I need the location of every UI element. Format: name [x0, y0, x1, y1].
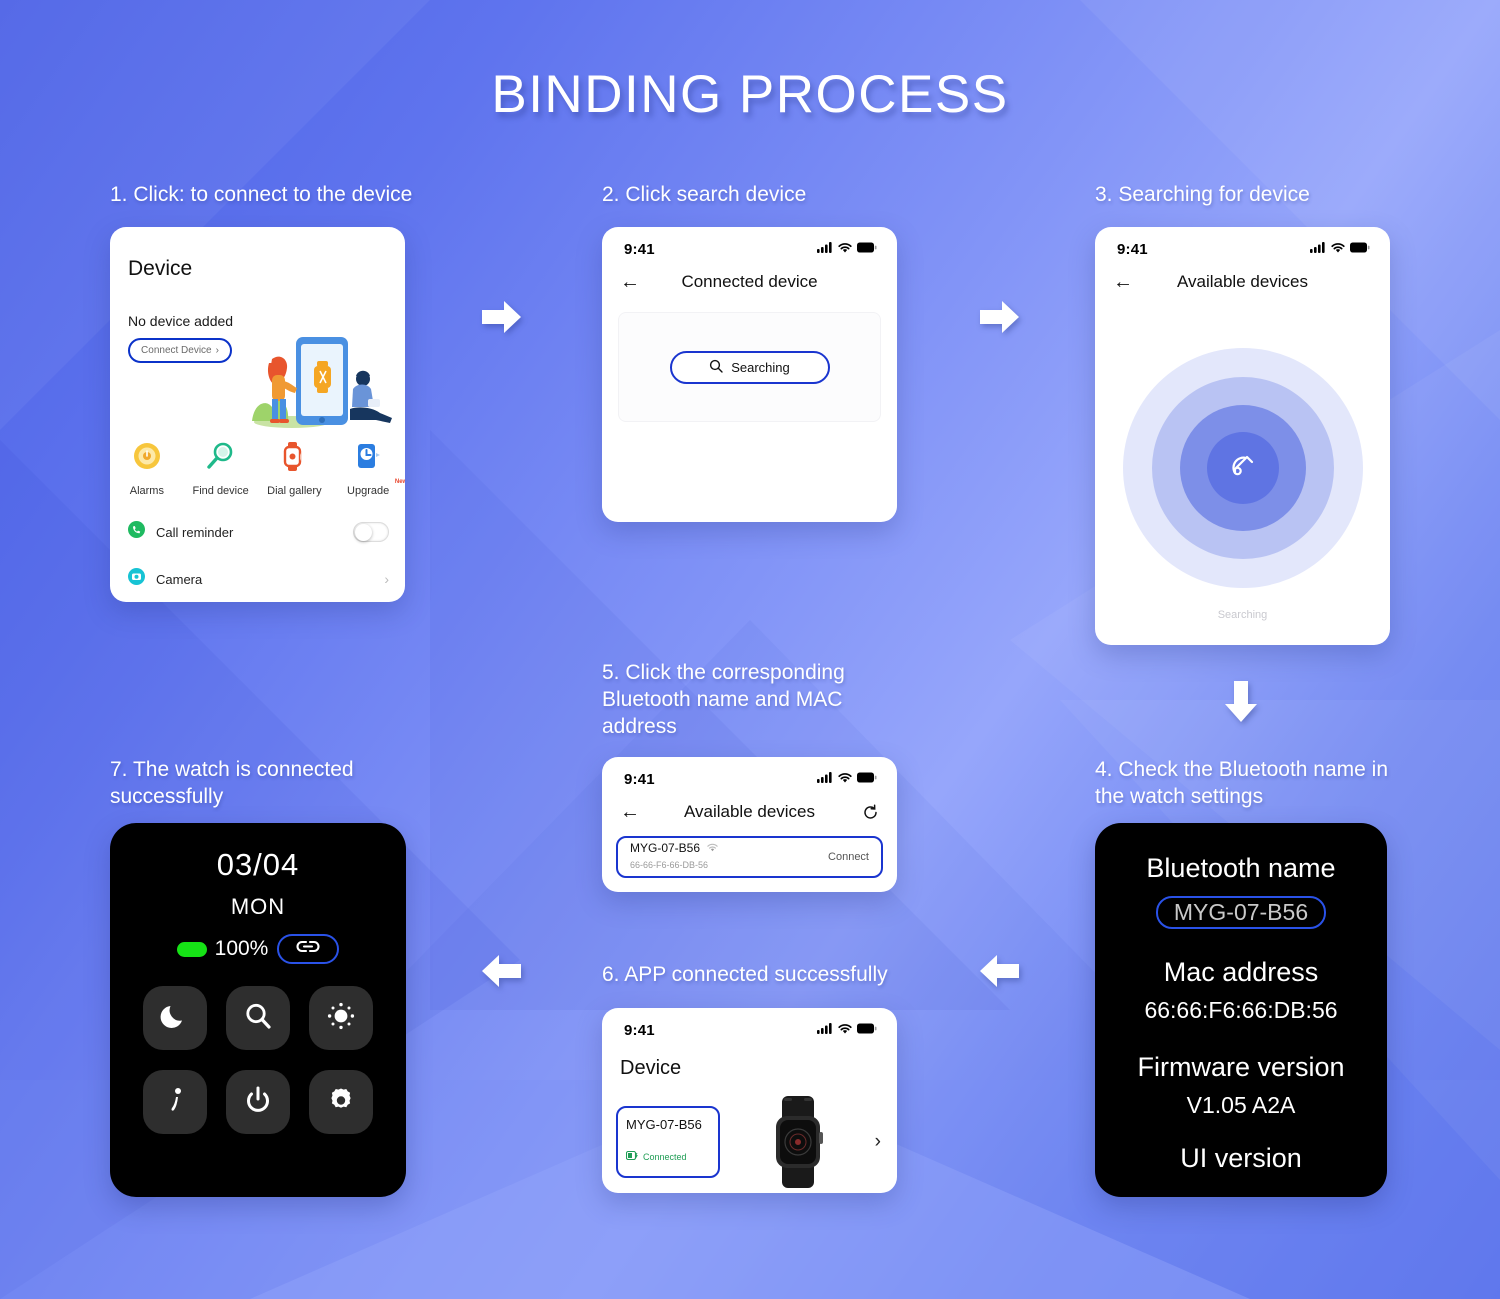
bluetooth-link-button[interactable]: [277, 934, 339, 964]
step-4-caption: 4. Check the Bluetooth name in the watch…: [1095, 756, 1395, 810]
step-5-caption: 5. Click the corresponding Bluetooth nam…: [602, 659, 857, 740]
status-time: 9:41: [624, 771, 655, 788]
card-connected-device: 9:41 ← Connected device Searching: [602, 227, 897, 522]
power-icon: [242, 1084, 274, 1121]
nav-bar: ← Available devices: [602, 792, 897, 830]
nav-bar: ← Available devices: [1095, 262, 1390, 300]
row-camera[interactable]: Camera ›: [128, 561, 389, 597]
connected-device-card[interactable]: MYG-07-B56 Connected: [616, 1106, 720, 1178]
alarm-clock-icon: [130, 439, 164, 473]
refresh-icon[interactable]: [853, 804, 879, 821]
chevron-right-icon: ›: [216, 345, 219, 356]
shortcut-upgrade-label: Upgrade New: [347, 485, 389, 497]
available-device-row[interactable]: MYG-07-B56 66-66-F6-66-DB-56 Connect: [616, 836, 883, 878]
ui-version-label: UI version: [1095, 1143, 1387, 1174]
card3-nav-title: Available devices: [1139, 272, 1346, 292]
status-bar: 9:41: [1095, 227, 1390, 262]
card-device-connected: 9:41 Device MYG-07-B56 Connected: [602, 1008, 897, 1193]
mac-address-value: 66:66:F6:66:DB:56: [1095, 997, 1387, 1024]
arrow-left-icon: [482, 952, 522, 990]
watch-face-icon: [277, 439, 311, 473]
wifi-icon: [1331, 240, 1345, 258]
brightness-icon: [325, 1000, 357, 1037]
battery-icon: [857, 240, 877, 258]
row-camera-label: Camera: [156, 572, 384, 587]
find-device-magnifier-icon: [204, 439, 238, 473]
bluetooth-name-label: Bluetooth name: [1095, 853, 1387, 884]
onboarding-illustration: [232, 323, 397, 428]
moon-icon: [159, 1000, 191, 1037]
firmware-upgrade-icon: [351, 439, 385, 473]
radar-animation: [1095, 318, 1390, 618]
info-icon: [159, 1084, 191, 1121]
phone-call-icon: [128, 521, 145, 543]
satellite-dish-icon: [1228, 451, 1258, 486]
status-bar: 9:41: [602, 757, 897, 792]
firmware-version-value: V1.05 A2A: [1095, 1092, 1387, 1119]
searching-label: Searching: [731, 360, 790, 375]
wifi-icon: [838, 770, 852, 788]
mac-address-label: Mac address: [1095, 957, 1387, 988]
shortcut-find-device[interactable]: Find device: [184, 439, 258, 499]
card-available-devices-list: 9:41 ← Available devices MYG-07-B56: [602, 757, 897, 892]
radar-status-label: Searching: [1095, 609, 1390, 621]
step-7-caption: 7. The watch is connected successfully: [110, 756, 410, 810]
card5-nav-title: Available devices: [646, 802, 853, 822]
status-icons: [1310, 240, 1370, 258]
back-arrow-icon[interactable]: ←: [620, 802, 646, 822]
magnifier-icon: [242, 1000, 274, 1037]
connect-link[interactable]: Connect: [828, 851, 869, 863]
gear-icon: [325, 1084, 357, 1121]
cellular-signal-icon: [817, 1021, 833, 1039]
card-available-devices-radar: 9:41 ← Available devices: [1095, 227, 1390, 645]
arrow-down-icon: [1222, 681, 1260, 723]
find-phone-tile[interactable]: [226, 986, 290, 1050]
connect-device-label: Connect Device: [141, 345, 212, 356]
step-1-caption: 1. Click: to connect to the device: [110, 181, 530, 208]
chevron-right-icon[interactable]: ›: [875, 1131, 883, 1153]
battery-level-icon: [177, 942, 206, 957]
shortcut-alarms-label: Alarms: [130, 485, 164, 497]
bluetooth-signal-icon: [707, 841, 718, 855]
cellular-signal-icon: [1310, 240, 1326, 258]
power-tile[interactable]: [226, 1070, 290, 1134]
card1-shortcut-row: Alarms Find device: [110, 439, 405, 499]
status-icons: [817, 240, 877, 258]
settings-tile[interactable]: [309, 1070, 373, 1134]
arrow-step4-to-step6: [980, 952, 1020, 990]
status-time: 9:41: [624, 241, 655, 258]
page-title: BINDING PROCESS: [0, 64, 1500, 125]
radar-core: [1207, 432, 1279, 504]
available-device-mac: 66-66-F6-66-DB-56: [630, 860, 708, 870]
shortcut-find-device-label: Find device: [192, 485, 248, 497]
arrow-right-icon: [980, 298, 1020, 336]
arrow-left-icon: [980, 952, 1020, 990]
watch-status-row: 100%: [110, 934, 406, 964]
shortcut-alarms[interactable]: Alarms: [110, 439, 184, 499]
battery-icon: [857, 770, 877, 788]
available-device-name: MYG-07-B56: [630, 841, 700, 855]
arrow-step6-to-step7: [482, 952, 522, 990]
watch-tile-grid: [110, 964, 406, 1134]
bluetooth-name-value: MYG-07-B56: [1156, 896, 1326, 929]
card2-nav-title: Connected device: [646, 272, 853, 292]
connected-device-block: MYG-07-B56 Connected ›: [602, 1094, 897, 1190]
status-icons: [817, 1021, 877, 1039]
watch-day: MON: [110, 894, 406, 920]
battery-charging-icon: [626, 1151, 639, 1162]
step-6-caption: 6. APP connected successfully: [602, 961, 932, 988]
chevron-right-icon: ›: [384, 571, 389, 587]
shortcut-upgrade[interactable]: Upgrade New: [331, 439, 405, 499]
shortcut-dial-gallery-label: Dial gallery: [267, 485, 321, 497]
row-call-reminder[interactable]: Call reminder: [128, 514, 389, 550]
cellular-signal-icon: [817, 770, 833, 788]
info-tile[interactable]: [143, 1070, 207, 1134]
battery-icon: [857, 1021, 877, 1039]
new-badge: New: [395, 479, 405, 485]
back-arrow-icon[interactable]: ←: [1113, 272, 1139, 292]
step-3-caption: 3. Searching for device: [1095, 181, 1435, 208]
searching-button[interactable]: Searching: [670, 351, 830, 384]
connected-device-name: MYG-07-B56: [626, 1117, 710, 1132]
camera-icon: [128, 568, 145, 590]
watch-home-screen: 03/04 MON 100%: [110, 823, 406, 1197]
watch-date: 03/04: [110, 847, 406, 883]
row-call-reminder-label: Call reminder: [156, 525, 353, 540]
connected-status-label: Connected: [643, 1152, 687, 1162]
arrow-step2-to-step3: [980, 298, 1020, 336]
firmware-version-label: Firmware version: [1095, 1052, 1387, 1083]
arrow-step1-to-step2: [482, 298, 522, 336]
wifi-icon: [838, 240, 852, 258]
status-time: 9:41: [624, 1022, 655, 1039]
battery-percent: 100%: [215, 937, 269, 961]
link-chain-icon: [295, 938, 321, 960]
status-bar: 9:41: [602, 1008, 897, 1043]
brightness-tile[interactable]: [309, 986, 373, 1050]
arrow-right-icon: [482, 298, 522, 336]
status-time: 9:41: [1117, 241, 1148, 258]
cellular-signal-icon: [817, 240, 833, 258]
connect-device-button[interactable]: Connect Device ›: [128, 338, 232, 363]
do-not-disturb-tile[interactable]: [143, 986, 207, 1050]
status-icons: [817, 770, 877, 788]
card1-title: Device: [128, 257, 405, 281]
back-arrow-icon[interactable]: ←: [620, 272, 646, 292]
smartwatch-photo: [720, 1094, 875, 1190]
step-2-caption: 2. Click search device: [602, 181, 932, 208]
status-bar: 9:41: [602, 227, 897, 262]
nav-bar: ← Connected device: [602, 262, 897, 300]
wifi-icon: [838, 1021, 852, 1039]
battery-icon: [1350, 240, 1370, 258]
card-device-home: Device No device added Connect Device ›: [110, 227, 405, 602]
search-panel: Searching: [618, 312, 881, 422]
card6-title: Device: [620, 1057, 897, 1080]
shortcut-dial-gallery[interactable]: Dial gallery: [258, 439, 332, 499]
arrow-step3-to-step4: [1222, 681, 1260, 723]
call-reminder-toggle[interactable]: [353, 522, 389, 542]
magnifier-icon: [709, 359, 723, 376]
watch-settings-screen: Bluetooth name MYG-07-B56 Mac address 66…: [1095, 823, 1387, 1197]
